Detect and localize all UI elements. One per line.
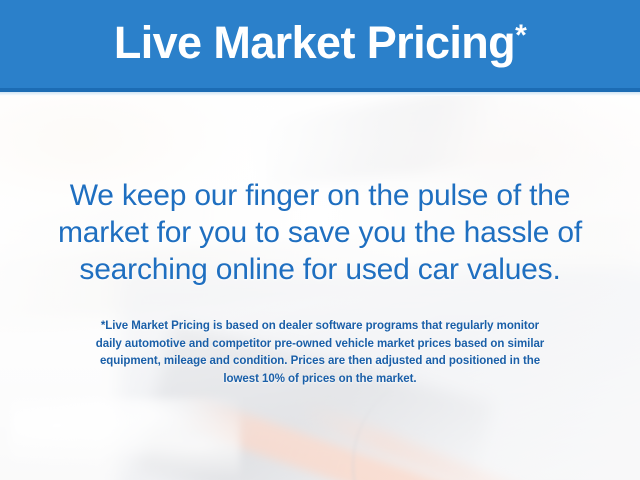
live-market-pricing-promo: Live Market Pricing* We keep our finger …	[0, 0, 640, 480]
headline-block: We keep our finger on the pulse of the m…	[0, 177, 640, 288]
disclaimer-line-1: *Live Market Pricing is based on dealer …	[0, 318, 640, 336]
banner-title-text: Live Market Pricing	[114, 17, 515, 68]
headline-line-1: We keep our finger on the pulse of the	[0, 177, 640, 214]
banner-title: Live Market Pricing*	[114, 20, 526, 69]
headline-line-3: searching online for used car values.	[0, 251, 640, 288]
disclaimer-line-2: daily automotive and competitor pre-owne…	[0, 336, 640, 354]
disclaimer-line-4: lowest 10% of prices on the market.	[0, 371, 640, 389]
banner-underline	[0, 92, 640, 96]
header-banner: Live Market Pricing*	[0, 0, 640, 92]
headline-line-2: market for you to save you the hassle of	[0, 214, 640, 251]
disclaimer-block: *Live Market Pricing is based on dealer …	[0, 318, 640, 388]
disclaimer-line-3: equipment, mileage and condition. Prices…	[0, 353, 640, 371]
banner-asterisk: *	[515, 19, 526, 52]
